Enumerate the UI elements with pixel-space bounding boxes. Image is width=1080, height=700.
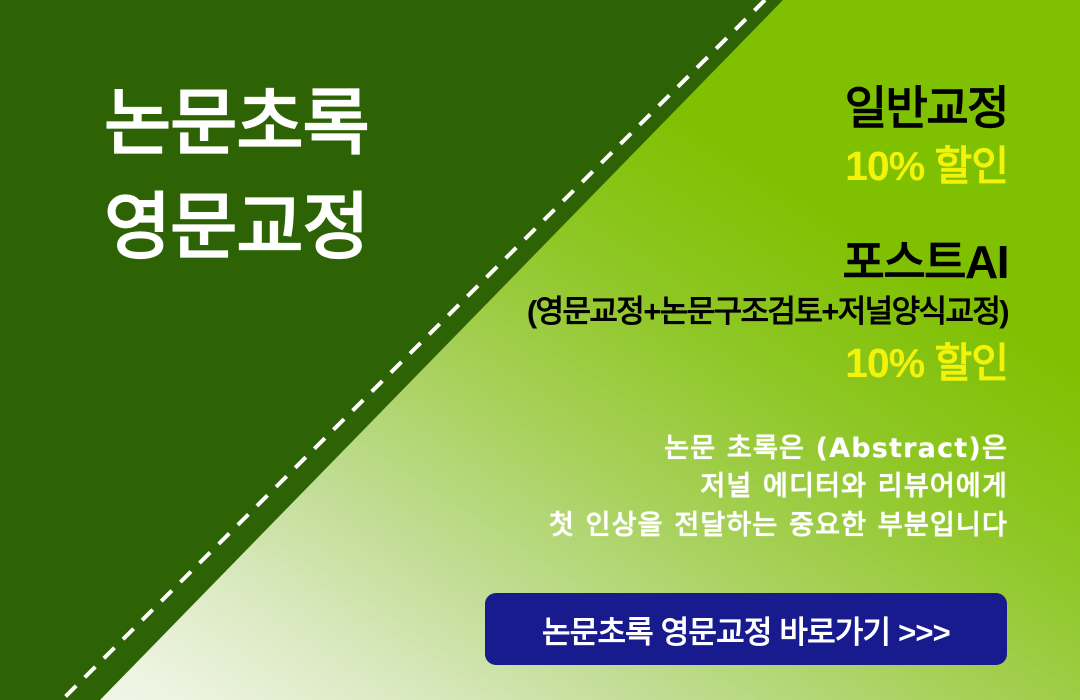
service-item-general: 일반교정 10% 할인 (448, 82, 1008, 192)
service-name-general: 일반교정 (448, 82, 1008, 134)
service-list-spacer (448, 192, 1008, 236)
promo-banner: 논문초록 영문교정 일반교정 10% 할인 포스트AI (영문교정+논문구조검토… (0, 0, 1080, 700)
service-discount-postai: 10% 할인 (448, 339, 1008, 388)
service-list: 일반교정 10% 할인 포스트AI (영문교정+논문구조검토+저널양식교정) 1… (448, 82, 1008, 388)
abstract-description-text: 논문 초록은 (Abstract)은 저널 에디터와 리뷰어에게 첫 인상을 전… (448, 430, 1008, 545)
service-name-postai: 포스트AI (448, 236, 1008, 288)
service-item-postai: 포스트AI (영문교정+논문구조검토+저널양식교정) 10% 할인 (448, 236, 1008, 388)
service-subtitle-postai: (영문교정+논문구조검토+저널양식교정) (448, 294, 1008, 331)
service-discount-general: 10% 할인 (448, 142, 1008, 191)
cta-button-label: 논문초록 영문교정 바로가기 >>> (542, 607, 950, 652)
go-to-abstract-editing-button[interactable]: 논문초록 영문교정 바로가기 >>> (485, 593, 1007, 665)
